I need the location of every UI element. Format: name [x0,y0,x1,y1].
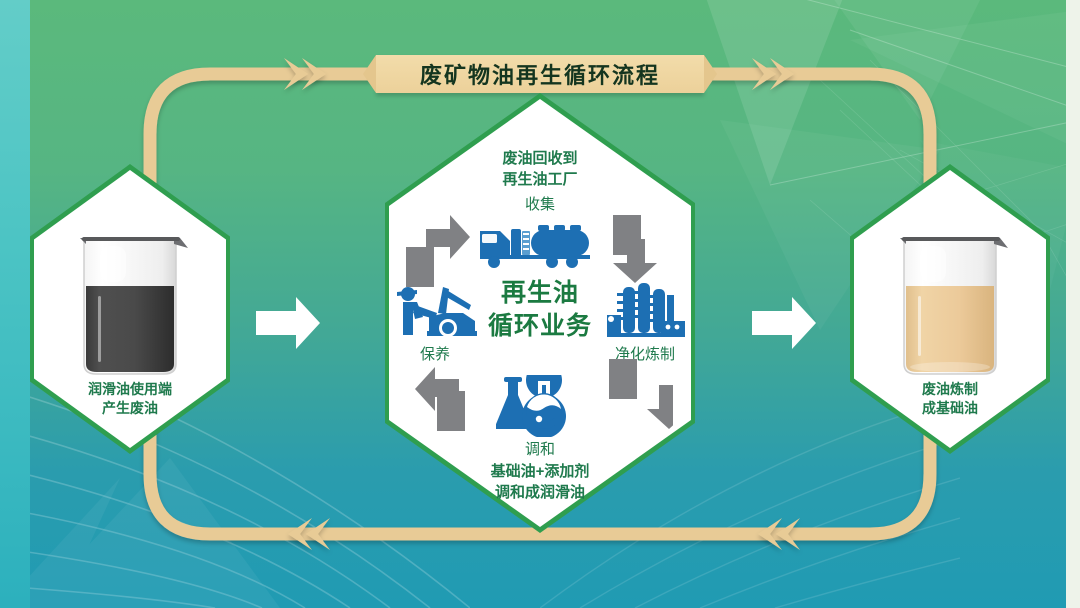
infographic-canvas: 废矿物油再生循环流程 [0,0,1080,608]
flow-arrow-maintain-to-collect [400,211,472,291]
node-label-blend: 调和 [385,438,695,459]
page-title: 废矿物油再生循环流程 [376,55,704,93]
tanker-truck-icon [478,217,602,269]
waste-oil-beaker-icon [70,224,190,384]
center-top-note-line2: 再生油工厂 [385,169,695,190]
arrow-center-to-right [752,295,818,351]
flask-icon [496,375,584,437]
refinery-icon [607,281,685,343]
left-stage-caption-line1: 润滑油使用端 [34,380,226,399]
center-core-line1: 再生油 [470,277,610,310]
right-stage-caption-line1: 废油炼制 [854,380,1046,399]
center-bottom-note: 基础油+添加剂 调和成润滑油 [385,461,695,503]
flow-arrow-blend-to-maintain [403,355,475,435]
center-bottom-note-line1: 基础油+添加剂 [385,461,695,482]
center-core-text: 再生油 循环业务 [470,277,610,343]
center-top-note: 废油回收到 再生油工厂 [385,148,695,190]
base-oil-beaker-icon [890,224,1010,384]
title-ribbon: 废矿物油再生循环流程 [376,55,704,93]
flow-arrow-collect-to-refine [603,211,675,291]
center-core-line2: 循环业务 [470,310,610,343]
center-bottom-note-line2: 调和成润滑油 [385,482,695,503]
center-top-note-line1: 废油回收到 [385,148,695,169]
center-cycle-content: 废油回收到 再生油工厂 收集 [385,93,695,533]
car-service-icon [391,283,477,341]
arrow-left-to-center [256,295,322,351]
flow-arrow-refine-to-blend [601,355,673,435]
